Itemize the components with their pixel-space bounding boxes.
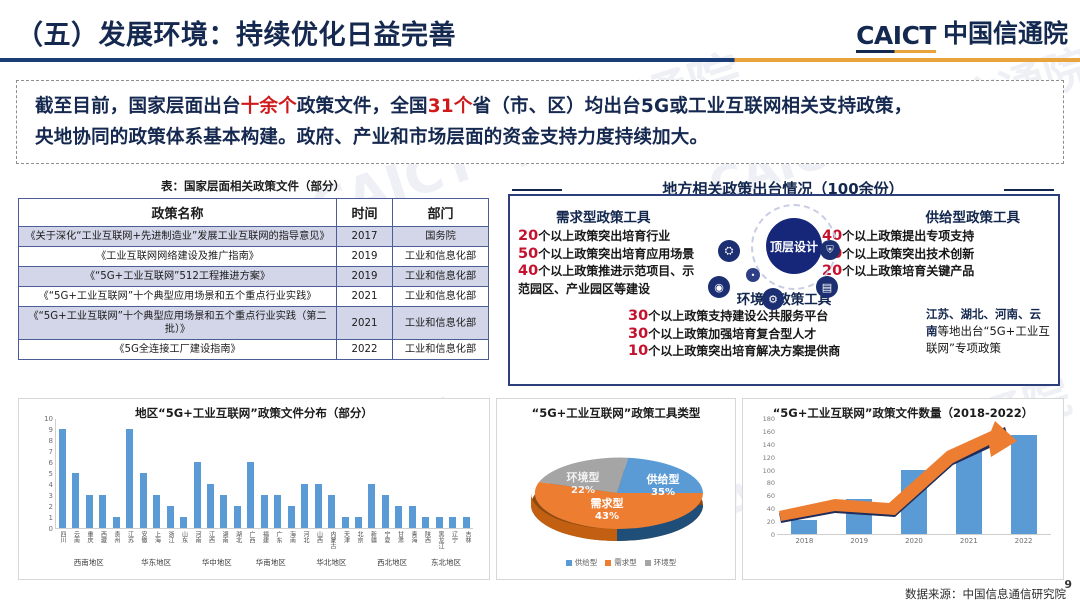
supply-tools-title: 供给型政策工具 [926, 206, 1021, 226]
group-label: 东北地区 [419, 557, 473, 568]
x-tick-label: 贵州 [112, 531, 119, 549]
group-label: 华北地区 [298, 557, 365, 568]
callout-line-1: 截至目前，国家层面出台十余个政策文件，全国31个省（市、区）均出台5G或工业互联… [35, 91, 1049, 122]
table-row: 《关于深化“工业互联网+先进制造业”发展工业互联网的指导意见》2017国务院 [19, 227, 489, 247]
bar [409, 506, 416, 528]
count-chart-bars [777, 419, 1051, 535]
table-cell-dept: 工业和信息化部 [393, 307, 489, 340]
bar [1011, 435, 1037, 534]
local-policy-diagram: 地方相关政策出台情况（100余份） 需求型政策工具 供给型政策工具 环境型政策工… [500, 178, 1066, 390]
table-cell-time: 2019 [337, 267, 393, 287]
document-icon: ▤ [816, 276, 838, 298]
y-tick-label: 8 [49, 437, 53, 445]
node-cluster: 顶层设计 ⛭ ◉ ⛨ ▤ ⚙ • [700, 218, 890, 328]
bar [247, 462, 254, 528]
environment-count: 10 [628, 343, 648, 359]
x-tick-label: 北京 [355, 531, 362, 549]
table-cell-dept: 工业和信息化部 [393, 287, 489, 307]
pie-value-env: 22% [571, 485, 595, 496]
bar [207, 484, 214, 528]
environment-text: 个以上政策突出培育解决方案提供商 [648, 344, 840, 358]
bar [167, 506, 174, 528]
table-row: 《“5G+工业互联网”十个典型应用场景和五个重点行业实践（第二批）》2021工业… [19, 307, 489, 340]
pie-value-supply: 35% [651, 487, 675, 498]
legend-swatch [605, 560, 611, 566]
heading-rule-right [1004, 189, 1054, 191]
demand-count: 40 [518, 263, 538, 279]
bar [99, 495, 106, 528]
y-tick-label: 80 [767, 479, 775, 487]
col-header-time: 时间 [337, 199, 393, 227]
y-tick-label: 140 [763, 441, 775, 449]
demand-tools-title: 需求型政策工具 [556, 206, 651, 226]
y-tick-label: 2 [49, 503, 53, 511]
group-label: 华南地区 [244, 557, 298, 568]
demand-count: 20 [518, 228, 538, 244]
y-tick-label: 120 [763, 454, 775, 462]
table-row: 《“5G+工业互联网”十个典型应用场景和五个重点行业实践》2021工业和信息化部 [19, 287, 489, 307]
region-chart-group-labels: 西南地区华东地区华中地区华南地区华北地区西北地区东北地区 [55, 557, 473, 568]
environment-item: 10个以上政策突出培育解决方案提供商 [628, 343, 928, 361]
bar [342, 517, 349, 528]
x-tick-label: 新疆 [369, 531, 376, 549]
x-tick-label: 湖北 [234, 531, 241, 549]
x-tick-label: 吉林 [463, 531, 470, 549]
summary-callout: 截至目前，国家层面出台十余个政策文件，全国31个省（市、区）均出台5G或工业互联… [16, 80, 1064, 164]
x-tick-label: 内蒙古 [328, 531, 335, 549]
table-caption: 表：国家层面相关政策文件（部分） [18, 178, 488, 194]
region-chart-plot-area: 012345678910 四川云南重庆西藏贵州江苏安徽上海浙江山东河南江西湖南湖… [55, 419, 473, 539]
x-tick-label: 宁夏 [382, 531, 389, 549]
environment-count: 30 [628, 308, 648, 324]
count-chart-plot-area: 020406080100120140160180 201820192020202… [777, 419, 1051, 545]
legend-label: 供给型 [575, 558, 598, 567]
count-chart-yaxis: 020406080100120140160180 [753, 419, 775, 535]
demand-text: 个以上政策突出培育行业 [538, 229, 670, 243]
y-tick-label: 160 [763, 428, 775, 436]
policy-tool-type-chart: “5G+工业互联网”政策工具类型 环境型 22% 供给型 35% 需求型 [496, 398, 736, 580]
dot-node-icon: • [746, 268, 760, 282]
chip-icon: ⚙ [762, 288, 784, 310]
bar [59, 429, 66, 528]
table-cell-time: 2021 [337, 307, 393, 340]
bar [234, 506, 241, 528]
table-cell-name: 《工业互联网网络建设及推广指南》 [19, 247, 337, 267]
data-source-note: 数据来源：中国信息通信研究院 [905, 586, 1066, 602]
x-tick-label: 上海 [153, 531, 160, 549]
y-tick-label: 100 [763, 467, 775, 475]
table-cell-dept: 工业和信息化部 [393, 247, 489, 267]
table-cell-name: 《“5G+工业互联网”十个典型应用场景和五个重点行业实践（第二批）》 [19, 307, 337, 340]
table-cell-dept: 国务院 [393, 227, 489, 247]
environment-count: 30 [628, 326, 648, 342]
bar [956, 448, 982, 534]
x-tick-label: 黑龙江 [436, 531, 443, 549]
x-tick-label: 陕西 [423, 531, 430, 549]
region-chart-title: 地区“5G+工业互联网”政策文件分布（部分） [19, 399, 489, 421]
y-tick-label: 7 [49, 448, 53, 456]
slide-root: CAICT 中国信通院 CAICT 中国信通院 CAICT 中国信通院 CAIC… [0, 0, 1080, 608]
bar [180, 517, 187, 528]
pie-label-demand: 需求型 [591, 496, 624, 510]
bar [846, 499, 872, 534]
x-tick-label: 河北 [301, 531, 308, 549]
bar [140, 473, 147, 528]
table-cell-dept: 工业和信息化部 [393, 340, 489, 360]
demand-text: 个以上政策突出培育应用场景 [538, 247, 694, 261]
group-label: 西北地区 [365, 557, 419, 568]
legend-label: 环境型 [654, 558, 677, 567]
bar [328, 495, 335, 528]
province-note-rest: 等地出台“5G+工业互联网”专项政策 [926, 324, 1050, 355]
group-label: 西南地区 [55, 557, 122, 568]
logo-abbr: CAICT [856, 21, 936, 50]
x-tick-label: 辽宁 [450, 531, 457, 549]
y-tick-label: 20 [767, 518, 775, 526]
x-tick-label: 广西 [247, 531, 254, 549]
pie-chart-legend: 供给型需求型环境型 [497, 557, 737, 568]
callout-text-c: 省（市、区）均出台5G或工业互联网相关支持政策， [473, 96, 913, 117]
table-cell-time: 2017 [337, 227, 393, 247]
y-tick-label: 3 [49, 492, 53, 500]
legend-swatch [566, 560, 572, 566]
policy-table: 政策名称 时间 部门 《关于深化“工业互联网+先进制造业”发展工业互联网的指导意… [18, 198, 489, 360]
slide-header: （五）发展环境：持续优化日益完善 CAICT 中国信通院 [0, 0, 1080, 62]
x-tick-label: 2022 [1009, 537, 1039, 545]
col-header-dept: 部门 [393, 199, 489, 227]
x-tick-label: 2018 [789, 537, 819, 545]
y-tick-label: 4 [49, 481, 53, 489]
x-tick-label: 广东 [274, 531, 281, 549]
bar [463, 517, 470, 528]
region-chart-yaxis: 012345678910 [33, 419, 53, 529]
x-tick-label: 河南 [193, 531, 200, 549]
bar [436, 517, 443, 528]
x-tick-label: 湖南 [220, 531, 227, 549]
bar [791, 520, 817, 534]
demand-count: 50 [518, 246, 538, 262]
x-tick-label: 天津 [342, 531, 349, 549]
bar [126, 429, 133, 528]
bar [288, 506, 295, 528]
x-tick-label: 2021 [954, 537, 984, 545]
y-tick-label: 40 [767, 505, 775, 513]
bar [261, 495, 268, 528]
table-cell-time: 2019 [337, 247, 393, 267]
table-cell-time: 2021 [337, 287, 393, 307]
x-tick-label: 浙江 [166, 531, 173, 549]
y-tick-label: 180 [763, 415, 775, 423]
x-tick-label: 海南 [288, 531, 295, 549]
table-cell-name: 《5G全连接工厂建设指南》 [19, 340, 337, 360]
callout-text-b: 政策文件，全国 [297, 96, 428, 117]
x-tick-label: 四川 [58, 531, 65, 549]
bar [194, 462, 201, 528]
y-tick-label: 6 [49, 459, 53, 467]
x-tick-label: 山西 [315, 531, 322, 549]
table-cell-time: 2022 [337, 340, 393, 360]
region-distribution-chart: 地区“5G+工业互联网”政策文件分布（部分） 012345678910 四川云南… [18, 398, 490, 580]
x-tick-label: 江苏 [126, 531, 133, 549]
environment-item: 30个以上政策加强培育复合型人才 [628, 326, 928, 344]
y-tick-label: 9 [49, 426, 53, 434]
environment-text: 个以上政策加强培育复合型人才 [648, 327, 816, 341]
y-tick-label: 1 [49, 514, 53, 522]
col-header-name: 政策名称 [19, 199, 337, 227]
province-note: 江苏、湖北、河南、云南等地出台“5G+工业互联网”专项政策 [926, 306, 1050, 357]
table-cell-name: 《关于深化“工业互联网+先进制造业”发展工业互联网的指导意见》 [19, 227, 337, 247]
header-divider [0, 58, 1080, 62]
x-tick-label: 2019 [844, 537, 874, 545]
x-tick-label: 云南 [72, 531, 79, 549]
x-tick-label: 2020 [899, 537, 929, 545]
y-tick-label: 5 [49, 470, 53, 478]
table-cell-name: 《“5G+工业互联网”512工程推进方案》 [19, 267, 337, 287]
x-tick-label: 山东 [180, 531, 187, 549]
pie-chart-area: 环境型 22% 供给型 35% 需求型 43% [497, 423, 737, 553]
bar [901, 470, 927, 534]
bar [86, 495, 93, 528]
bar [153, 495, 160, 528]
pie-chart-title: “5G+工业互联网”政策工具类型 [497, 399, 735, 421]
bar [72, 473, 79, 528]
policy-table-body: 《关于深化“工业互联网+先进制造业”发展工业互联网的指导意见》2017国务院《工… [19, 227, 489, 360]
group-label: 华东地区 [122, 557, 189, 568]
pie-value-demand: 43% [595, 511, 619, 522]
bar [355, 517, 362, 528]
factory-icon: ⛭ [718, 240, 740, 262]
region-chart-xlabels: 四川云南重庆西藏贵州江苏安徽上海浙江山东河南江西湖南湖北广西福建广东海南河北山西… [55, 531, 473, 549]
bar [368, 484, 375, 528]
pie-svg: 环境型 22% 供给型 35% 需求型 43% [497, 423, 737, 553]
target-icon: ◉ [708, 276, 730, 298]
x-tick-label: 重庆 [85, 531, 92, 549]
charts-row: 地区“5G+工业互联网”政策文件分布（部分） 012345678910 四川云南… [18, 398, 1064, 580]
legend-label: 需求型 [614, 558, 637, 567]
group-label: 华中地区 [190, 557, 244, 568]
callout-highlight-2: 31个 [428, 96, 473, 117]
count-chart-title: “5G+工业互联网”政策文件数量（2018-2022） [743, 399, 1063, 421]
demand-text: 个以上政策推进示范项目、示 [538, 264, 694, 278]
bar [113, 517, 120, 528]
bar [449, 517, 456, 528]
caict-logo: CAICT 中国信通院 [856, 14, 1068, 50]
table-cell-dept: 工业和信息化部 [393, 267, 489, 287]
x-tick-label: 甘肃 [396, 531, 403, 549]
bar [274, 495, 281, 528]
center-node: 顶层设计 [766, 218, 822, 274]
table-cell-name: 《“5G+工业互联网”十个典型应用场景和五个重点行业实践》 [19, 287, 337, 307]
pie-label-env: 环境型 [567, 470, 600, 484]
policy-count-chart: “5G+工业互联网”政策文件数量（2018-2022） 020406080100… [742, 398, 1064, 580]
callout-text-a: 截至目前，国家层面出台 [35, 96, 241, 117]
bar [422, 517, 429, 528]
policy-table-block: 表：国家层面相关政策文件（部分） 政策名称 时间 部门 《关于深化“工业互联网+… [18, 178, 488, 360]
bar [382, 495, 389, 528]
table-row: 《工业互联网网络建设及推广指南》2019工业和信息化部 [19, 247, 489, 267]
bar [220, 495, 227, 528]
bar [301, 484, 308, 528]
callout-highlight-1: 十余个 [241, 96, 297, 117]
page-title: （五）发展环境：持续优化日益完善 [16, 13, 456, 52]
y-tick-label: 0 [49, 525, 53, 533]
y-tick-label: 60 [767, 492, 775, 500]
y-tick-label: 0 [771, 531, 775, 539]
x-tick-label: 江西 [207, 531, 214, 549]
x-tick-label: 西藏 [99, 531, 106, 549]
table-row: 《5G全连接工厂建设指南》2022工业和信息化部 [19, 340, 489, 360]
logo-chinese-name: 中国信通院 [943, 14, 1068, 50]
y-tick-label: 10 [44, 415, 53, 423]
legend-swatch [645, 560, 651, 566]
shield-icon: ⛨ [820, 240, 840, 260]
x-tick-label: 青海 [409, 531, 416, 549]
callout-line-2: 央地协同的政策体系基本构建。政府、产业和市场层面的资金支持力度持续加大。 [35, 122, 1049, 153]
region-chart-bars [55, 419, 473, 529]
table-header-row: 政策名称 时间 部门 [19, 199, 489, 227]
pie-label-supply: 供给型 [646, 472, 680, 486]
diagram-body: 需求型政策工具 供给型政策工具 环境型政策工具 20个以上政策突出培育行业50个… [508, 194, 1060, 386]
x-tick-label: 安徽 [139, 531, 146, 549]
table-row: 《“5G+工业互联网”512工程推进方案》2019工业和信息化部 [19, 267, 489, 287]
demand-text: 范园区、产业园区等建设 [518, 282, 650, 296]
bar [315, 484, 322, 528]
count-chart-xlabels: 20182019202020212022 [777, 537, 1051, 545]
bar [395, 506, 402, 528]
x-tick-label: 福建 [261, 531, 268, 549]
